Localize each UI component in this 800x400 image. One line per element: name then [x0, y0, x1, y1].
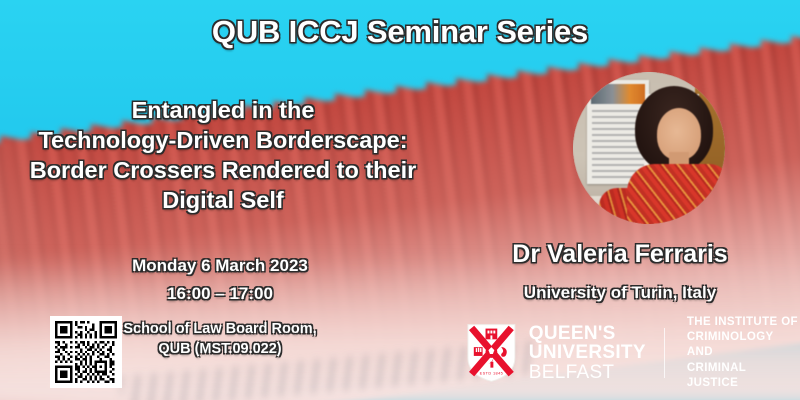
- speaker-affiliation: University of Turin, Italy: [440, 283, 800, 303]
- logo-row: ESTD 1845 QUEEN'S UNIVERSITY BELFAST THE…: [466, 320, 800, 386]
- qr-code[interactable]: [50, 316, 122, 388]
- speaker-name: Dr Valeria Ferraris: [440, 240, 800, 269]
- talk-title: Entangled in the Technology-Driven Borde…: [14, 96, 432, 215]
- qub-wordmark: QUEEN'S UNIVERSITY BELFAST: [529, 324, 646, 383]
- speaker-portrait: [573, 72, 725, 224]
- talk-title-line: Entangled in the: [14, 96, 432, 126]
- qub-wordmark-line1: QUEEN'S: [529, 324, 646, 344]
- page-title: QUB ICCJ Seminar Series: [0, 14, 800, 50]
- portrait-soft-focus: [573, 72, 725, 224]
- iccj-wordmark: THE INSTITUTE OF CRIMINOLOGY AND CRIMINA…: [687, 315, 800, 391]
- event-date: Monday 6 March 2023: [20, 252, 420, 280]
- iccj-line3: CRIMINAL JUSTICE: [687, 361, 800, 391]
- talk-title-line: Technology-Driven Borderscape:: [14, 126, 432, 156]
- seminar-poster: QUB ICCJ Seminar Series Entangled in the…: [0, 0, 800, 400]
- logo-divider: [664, 328, 665, 378]
- iccj-line2: CRIMINOLOGY AND: [687, 330, 800, 360]
- event-datetime: Monday 6 March 2023 16:00 – 17:00: [20, 252, 420, 308]
- qub-wordmark-line2: UNIVERSITY: [529, 343, 646, 363]
- qr-code-image: [55, 321, 117, 383]
- svg-text:ESTD 1845: ESTD 1845: [480, 370, 504, 375]
- queens-university-belfast-crest-icon: ESTD 1845: [466, 322, 517, 384]
- talk-title-line: Digital Self: [14, 186, 432, 216]
- event-time: 16:00 – 17:00: [20, 280, 420, 308]
- qub-wordmark-line3: BELFAST: [529, 363, 646, 383]
- talk-title-line: Border Crossers Rendered to their: [14, 156, 432, 186]
- iccj-line1: THE INSTITUTE OF: [687, 315, 800, 330]
